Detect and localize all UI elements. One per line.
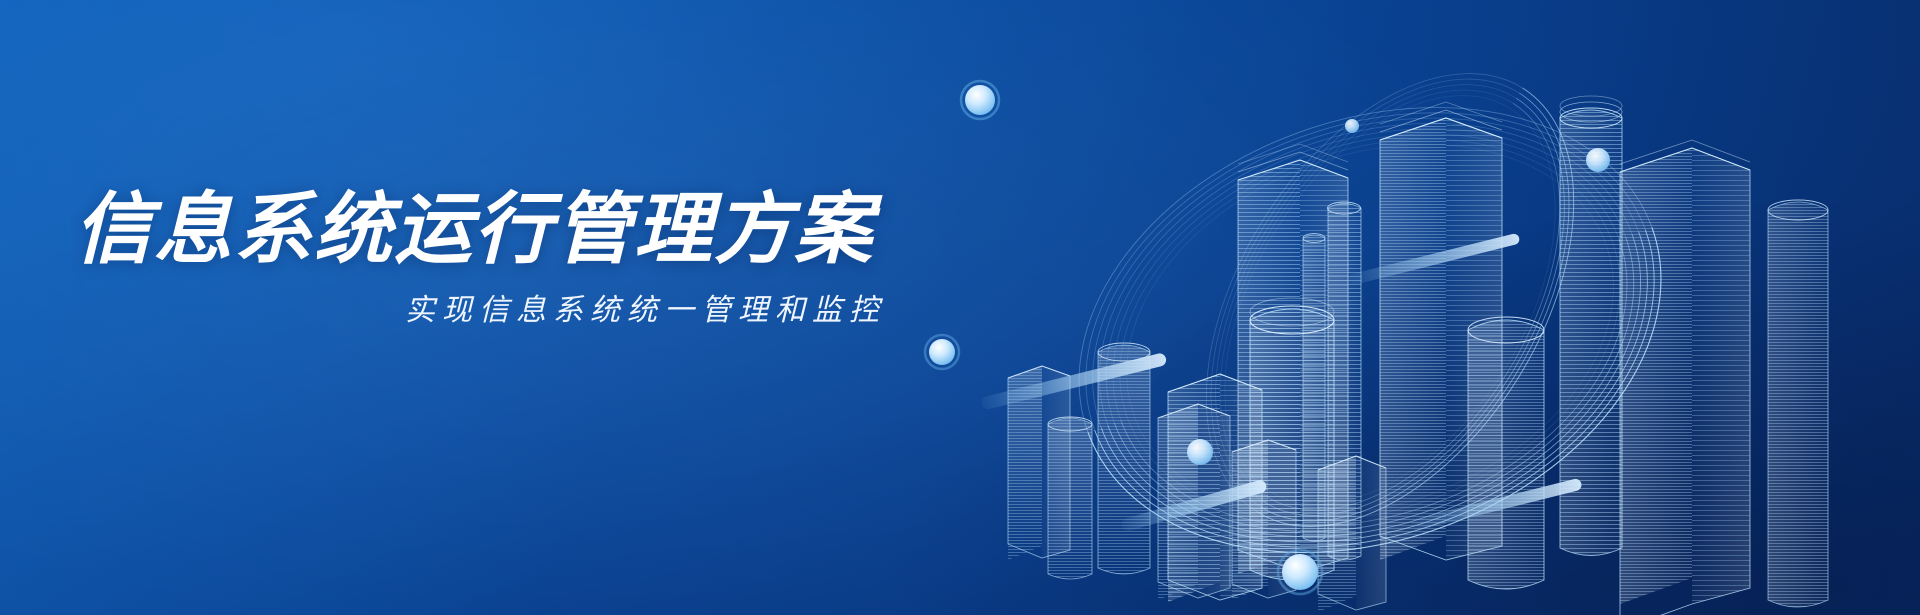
banner-title: 信息系统运行管理方案	[74, 188, 904, 271]
hero-banner: 信息系统运行管理方案 实现信息系统统一管理和监控	[0, 0, 1920, 615]
banner-subtitle: 实现信息系统统一管理和监控	[74, 285, 904, 329]
banner-text-block: 信息系统运行管理方案 实现信息系统统一管理和监控	[74, 188, 904, 329]
